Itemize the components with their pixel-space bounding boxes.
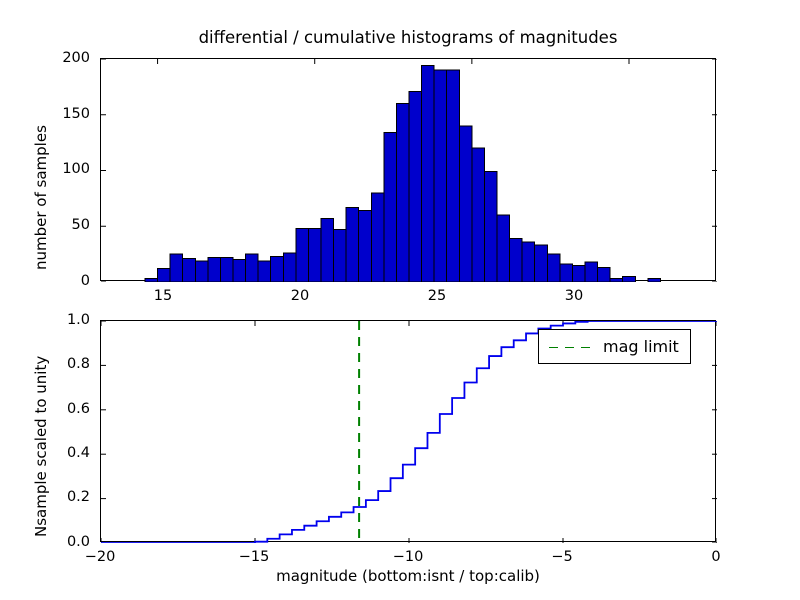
histogram-bar: [359, 211, 372, 282]
histogram-bar: [434, 70, 447, 282]
bottom-xtick-0: 0: [711, 549, 720, 565]
bottom-xtick--20: −20: [85, 549, 116, 565]
page-title: differential / cumulative histograms of …: [100, 28, 716, 47]
top-ytick-100: 100: [52, 161, 90, 177]
histogram-bar: [459, 126, 472, 282]
histogram-bar: [472, 148, 485, 282]
mag-limit-line-icon: [548, 346, 592, 348]
bottom-xtick--15: −15: [239, 549, 270, 565]
bottom-ytick-1.0: 1.0: [46, 312, 90, 328]
figure-canvas: differential / cumulative histograms of …: [0, 0, 800, 600]
histogram-bar: [484, 172, 497, 282]
bottom-ytick-0.8: 0.8: [46, 356, 90, 372]
histogram-bar: [208, 257, 221, 282]
histogram-bar: [283, 253, 296, 282]
histogram-bar: [422, 66, 435, 282]
histogram-bar: [547, 254, 560, 282]
histogram-bar: [522, 242, 535, 282]
histogram-bar: [384, 133, 397, 282]
top-histogram-axes: [100, 58, 716, 281]
histogram-bar: [321, 218, 334, 282]
histogram-bars: [145, 66, 660, 282]
histogram-bar: [271, 256, 284, 282]
bottom-xtick--10: −10: [393, 549, 424, 565]
histogram-bar: [396, 104, 409, 282]
top-ytick-150: 150: [52, 106, 90, 122]
legend-label-mag-limit: mag limit: [603, 337, 679, 356]
histogram-bar: [535, 245, 548, 282]
top-ytick-200: 200: [52, 50, 90, 66]
histogram-bar: [246, 254, 259, 282]
top-xtick-30: 30: [565, 288, 583, 304]
top-xtick-15: 15: [154, 288, 172, 304]
histogram-bar: [510, 239, 523, 282]
histogram-bar: [220, 257, 233, 282]
legend[interactable]: mag limit: [538, 329, 691, 364]
histogram-bar: [346, 207, 359, 282]
histogram-bar: [334, 230, 347, 282]
histogram-bar: [610, 279, 623, 282]
histogram-bar: [145, 279, 158, 282]
histogram-bar: [183, 259, 196, 282]
bottom-ytick-0.6: 0.6: [46, 401, 90, 417]
bottom-ytick-0.2: 0.2: [46, 489, 90, 505]
bottom-xtick--5: −5: [551, 549, 572, 565]
top-xtick-25: 25: [428, 288, 446, 304]
bottom-ytick-0.0: 0.0: [46, 534, 90, 550]
histogram-bar: [572, 265, 585, 282]
top-xtick-20: 20: [291, 288, 309, 304]
histogram-bar: [195, 261, 208, 282]
histogram-bar: [598, 268, 611, 282]
x-axis-label: magnitude (bottom:isnt / top:calib): [100, 567, 716, 585]
histogram-bar: [258, 261, 271, 282]
top-y-axis-label: number of samples: [32, 125, 50, 270]
histogram-bar: [497, 215, 510, 282]
histogram-bar: [170, 254, 183, 282]
histogram-bar: [560, 264, 573, 282]
top-ytick-50: 50: [52, 217, 90, 233]
histogram-bar: [308, 228, 321, 282]
top-ytick-0: 0: [52, 273, 90, 289]
histogram-bar: [158, 269, 171, 282]
histogram-bar: [585, 262, 598, 282]
histogram-bar: [648, 279, 661, 282]
histogram-bar: [447, 70, 460, 282]
histogram-bar: [233, 260, 246, 282]
histogram-bar: [296, 228, 309, 282]
histogram-bar: [371, 193, 384, 282]
bottom-ytick-0.4: 0.4: [46, 445, 90, 461]
histogram-bar: [409, 91, 422, 282]
histogram-bar: [623, 276, 636, 282]
top-histogram-plot: [101, 59, 717, 282]
